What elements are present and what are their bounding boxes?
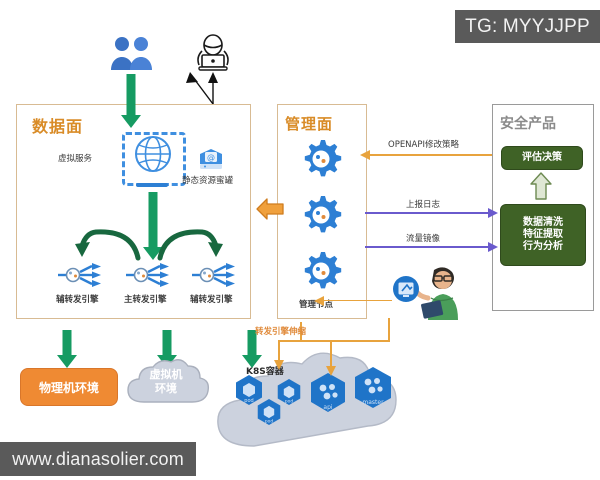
control-arrow-left-icon bbox=[256, 196, 284, 222]
svg-text:@: @ bbox=[207, 153, 215, 162]
user-traffic-arrow bbox=[120, 74, 142, 128]
connector-label-log-report: 上报日志 bbox=[406, 198, 440, 210]
analysis-line-3: 行为分析 bbox=[523, 241, 563, 253]
scaling-arrow-head-left bbox=[273, 358, 285, 370]
arrow-to-physical-env bbox=[56, 330, 78, 368]
traffic-mirror-arrow-head bbox=[486, 240, 498, 254]
gear-icon-3 bbox=[300, 250, 342, 292]
environment-virtual-label: 虚拟机 环境 bbox=[128, 368, 204, 396]
static-resource-label: 静态资源蜜罐 bbox=[182, 174, 233, 186]
admin-to-management-arrow-head bbox=[314, 294, 326, 308]
traffic-mirror-connector-line bbox=[365, 246, 492, 248]
engine-branch-arrow-right bbox=[154, 226, 226, 262]
security-box-evaluation: 评估决策 bbox=[501, 146, 583, 170]
environment-physical: 物理机环境 bbox=[20, 368, 118, 406]
scaling-arrow-head-right bbox=[325, 364, 337, 376]
gear-icon-1 bbox=[300, 138, 342, 180]
svg-text:pod: pod bbox=[285, 398, 293, 404]
engine-branch-arrow-left bbox=[72, 226, 144, 262]
connector-label-openapi: OPENAPI修改策略 bbox=[388, 138, 459, 150]
diagram-canvas: TG: MYYJJPP www.dianasolier.com 数据面 管理面 … bbox=[0, 0, 600, 480]
gear-icon-2 bbox=[300, 194, 342, 236]
analysis-line-2: 特征提取 bbox=[523, 229, 563, 241]
security-products-title: 安全产品 bbox=[500, 113, 556, 133]
security-flow-up-arrow bbox=[530, 172, 552, 200]
openapi-connector-line bbox=[365, 154, 492, 156]
log-report-arrow-head bbox=[486, 206, 498, 220]
telegram-watermark: TG: MYYJJPP bbox=[455, 10, 600, 43]
globe-base-bar bbox=[136, 183, 168, 187]
log-report-connector-line bbox=[365, 212, 492, 214]
k8s-node-pod-3: pod bbox=[256, 398, 282, 426]
management-plane-title: 管理面 bbox=[285, 113, 333, 134]
k8s-node-master: master bbox=[352, 366, 394, 410]
connector-label-traffic-mirror: 流量镜像 bbox=[406, 232, 440, 244]
hacker-laptop-icon bbox=[190, 34, 236, 74]
k8s-node-api: api bbox=[308, 372, 348, 414]
virtual-service-globe bbox=[122, 130, 184, 188]
environment-virtual-line-1: 虚拟机 bbox=[128, 368, 204, 382]
site-watermark: www.dianasolier.com bbox=[0, 442, 196, 476]
engine-label-aux-left: 辅转发引擎 bbox=[56, 293, 99, 305]
svg-text:master: master bbox=[362, 399, 384, 406]
svg-text:api: api bbox=[323, 404, 332, 411]
engine-label-aux-right: 辅转发引擎 bbox=[190, 293, 233, 305]
svg-text:pod: pod bbox=[265, 418, 273, 424]
forwarding-engine-icon-aux-right bbox=[192, 262, 242, 288]
virtual-service-label: 虚拟服务 bbox=[58, 152, 92, 164]
management-console-badge-icon bbox=[392, 275, 420, 303]
admin-to-management-line bbox=[320, 300, 392, 301]
scaling-line-horizontal bbox=[278, 340, 390, 342]
environment-virtual-line-2: 环境 bbox=[128, 382, 204, 396]
forwarding-engine-icon-primary bbox=[126, 262, 176, 288]
users-icon bbox=[110, 36, 156, 70]
analysis-line-1: 数据清洗 bbox=[523, 217, 563, 229]
connector-label-engine-scaling: 转发引擎伸缩 bbox=[255, 325, 306, 337]
forwarding-engine-icon-aux-left bbox=[58, 262, 108, 288]
security-box-analysis: 数据清洗 特征提取 行为分析 bbox=[500, 204, 586, 266]
engine-label-primary: 主转发引擎 bbox=[124, 293, 167, 305]
data-plane-title: 数据面 bbox=[32, 113, 83, 137]
static-resource-honeypot-icon: @ bbox=[196, 148, 226, 172]
openapi-arrow-head bbox=[360, 148, 372, 162]
svg-text:pod: pod bbox=[244, 398, 253, 404]
scaling-line-from-admin bbox=[388, 318, 390, 340]
globe-icon bbox=[133, 134, 173, 174]
